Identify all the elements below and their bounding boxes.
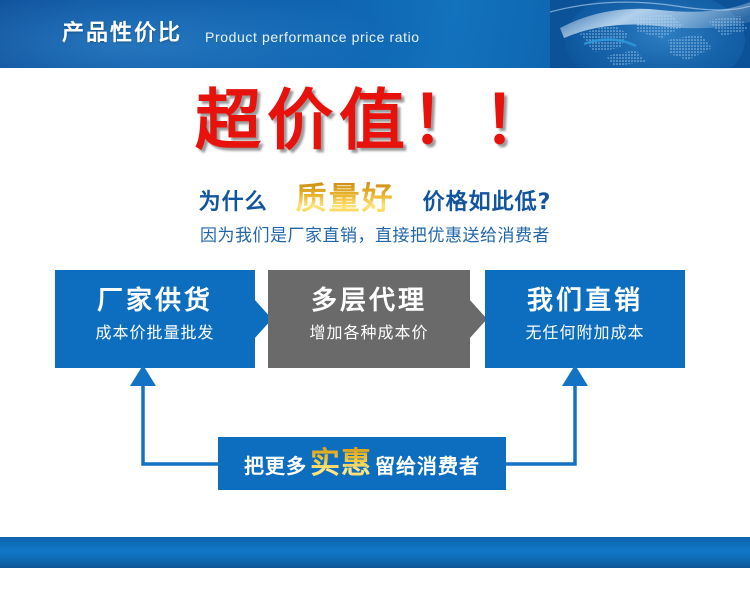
promo-banner-page: 产品性价比 Product performance price ratio 超价… <box>0 0 750 590</box>
flow-box-agents-subtitle: 增加各种成本价 <box>268 322 470 344</box>
subtitle-explanation: 因为我们是厂家直销，直接把优惠送给消费者 <box>0 224 750 248</box>
page-footer <box>0 537 750 568</box>
bottom-banner-highlight: 实惠 <box>310 446 372 481</box>
page-header: 产品性价比 Product performance price ratio <box>0 0 750 68</box>
subtitle-why: 为什么 <box>199 190 268 215</box>
bottom-banner: 把更多实惠留给消费者 <box>218 437 506 490</box>
subtitle-price: 价格如此低? <box>423 190 552 215</box>
flow-box-agents: 多层代理 增加各种成本价 <box>268 270 470 368</box>
bottom-banner-part3: 留给消费者 <box>375 454 480 478</box>
flow-box-factory-subtitle: 成本价批量批发 <box>55 322 255 344</box>
flow-box-direct-sales-subtitle: 无任何附加成本 <box>485 322 685 344</box>
world-globe-icon <box>550 0 750 68</box>
arrow-up-icon <box>562 365 588 386</box>
flow-box-factory: 厂家供货 成本价批量批发 <box>55 270 255 368</box>
flow-box-direct-sales: 我们直销 无任何附加成本 <box>485 270 685 368</box>
flow-box-agents-title: 多层代理 <box>268 284 470 318</box>
subtitle-quality: 质量好 <box>296 181 395 217</box>
subtitle-row: 为什么质量好价格如此低? <box>0 182 750 222</box>
flow-box-factory-title: 厂家供货 <box>55 284 255 318</box>
header-title-english: Product performance price ratio <box>205 29 420 45</box>
header-title-chinese: 产品性价比 <box>62 20 182 48</box>
bottom-banner-part1: 把更多 <box>244 454 307 478</box>
arrow-up-icon <box>130 365 156 386</box>
main-headline: 超价值！！ <box>0 82 750 160</box>
flow-box-direct-sales-title: 我们直销 <box>485 284 685 318</box>
